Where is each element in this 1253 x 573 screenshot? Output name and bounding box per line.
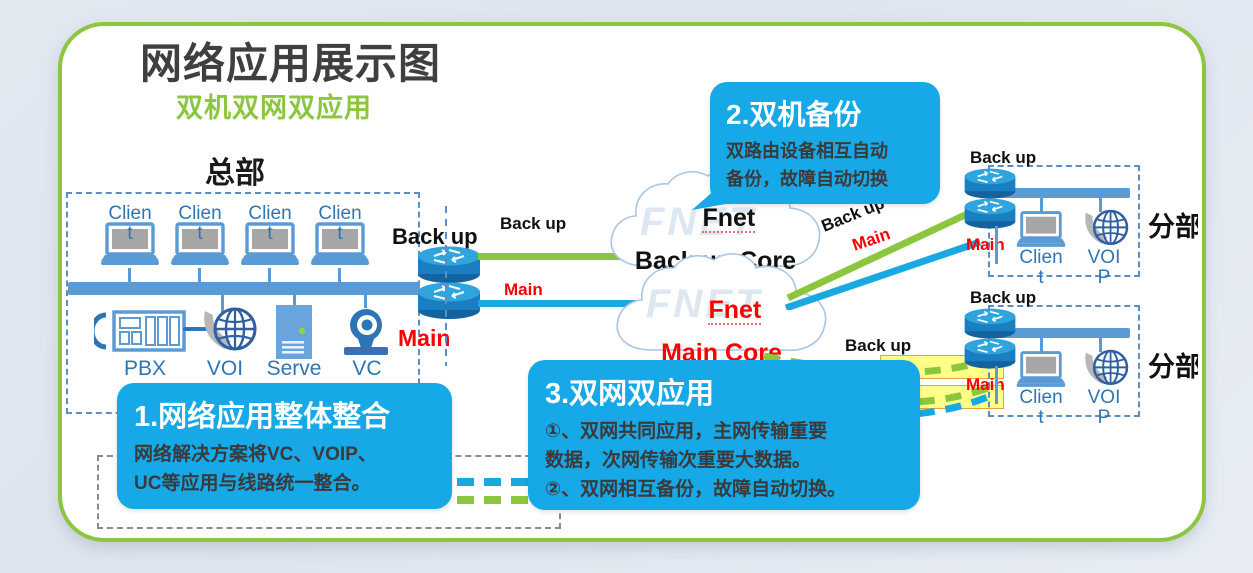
- callout-3-body-line-1: ①、双网共同应用，主网传输重要: [545, 416, 920, 443]
- client-label: Clien t: [169, 204, 231, 244]
- branch-1-voip-label: VOI P: [1073, 248, 1135, 288]
- voip-label: VOI: [192, 358, 258, 380]
- branch-3-main-router-icon: [963, 336, 1017, 375]
- branch-1-backup-router-label: Back up: [970, 148, 1036, 168]
- callout-1-body-line-2: UC等应用与线路统一整合。: [134, 468, 452, 495]
- server-stub: [293, 292, 296, 306]
- pbx-label: PBX: [110, 358, 180, 380]
- page-title: 网络应用展示图: [140, 30, 441, 91]
- callout-2[interactable]: 2.双机备份 双路由设备相互自动 备份，故障自动切换: [710, 82, 940, 204]
- branch3-backup-link-label: Back up: [845, 336, 911, 356]
- callout-2-heading: 2.双机备份: [726, 93, 940, 133]
- callout-2-body-line-2: 备份，故障自动切换: [726, 165, 940, 191]
- pbx-icon: [94, 305, 190, 362]
- callout-3-body-line-3: ②、双网相互备份，故障自动切换。: [545, 474, 920, 501]
- hq-main-router-icon: [416, 280, 482, 325]
- branch-3-backup-router-label: Back up: [970, 288, 1036, 308]
- client-label: Clien t: [99, 204, 161, 244]
- frame-content-clip: 网络应用展示图 双机双网双应用 总部 Clien t: [58, 22, 1198, 534]
- callout-1-heading: 1.网络应用整体整合: [134, 393, 452, 435]
- server-label: Serve: [258, 358, 330, 380]
- callout-1-body-line-1: 网络解决方案将VC、VOIP、: [134, 439, 452, 466]
- voip-globe-icon: [195, 303, 259, 364]
- callout-3[interactable]: 3.双网双应用 ①、双网共同应用，主网传输重要 数据，次网传输次重要大数据。 ②…: [528, 360, 920, 510]
- hq-backup-link-label: Back up: [500, 214, 566, 234]
- callout-1[interactable]: 1.网络应用整体整合 网络解决方案将VC、VOIP、 UC等应用与线路统一整合。: [117, 383, 452, 509]
- callout-3-body-line-2: 数据，次网传输次重要大数据。: [545, 445, 920, 472]
- hq-main-link-label: Main: [504, 280, 543, 300]
- page-subtitle: 双机双网双应用: [176, 86, 372, 125]
- hq-main-router-label: Main: [398, 325, 450, 352]
- vc-camera-icon: [340, 306, 392, 363]
- branch-1-router-stub: [995, 226, 998, 264]
- hq-router-divider: [444, 206, 448, 366]
- branch-1-main-router-label: Main: [966, 235, 1005, 255]
- callout-2-tail: [690, 178, 726, 212]
- main-core-line1: Fnet: [708, 298, 761, 325]
- branch-3-voip-label: VOI P: [1073, 388, 1135, 428]
- branch-3-client-label: Clien t: [1010, 388, 1072, 428]
- branch-3-router-stub: [995, 366, 998, 404]
- callout-2-body-line-1: 双路由设备相互自动: [726, 137, 940, 163]
- branch-3-label: 分部3: [1148, 345, 1198, 384]
- client-label: Clien t: [309, 204, 371, 244]
- diagram-canvas: 网络应用展示图 双机双网双应用 总部 Clien t: [0, 0, 1253, 573]
- branch-1-client-label: Clien t: [1010, 248, 1072, 288]
- branch-1-main-router-icon: [963, 196, 1017, 235]
- client-label: Clien t: [239, 204, 301, 244]
- headquarters-bus: [68, 282, 420, 295]
- branch-3-main-router-label: Main: [966, 375, 1005, 395]
- branch-1-label: 分部1: [1148, 205, 1198, 244]
- vc-label: VC: [344, 358, 390, 380]
- headquarters-title: 总部: [205, 148, 265, 192]
- callout-3-heading: 3.双网双应用: [545, 370, 920, 412]
